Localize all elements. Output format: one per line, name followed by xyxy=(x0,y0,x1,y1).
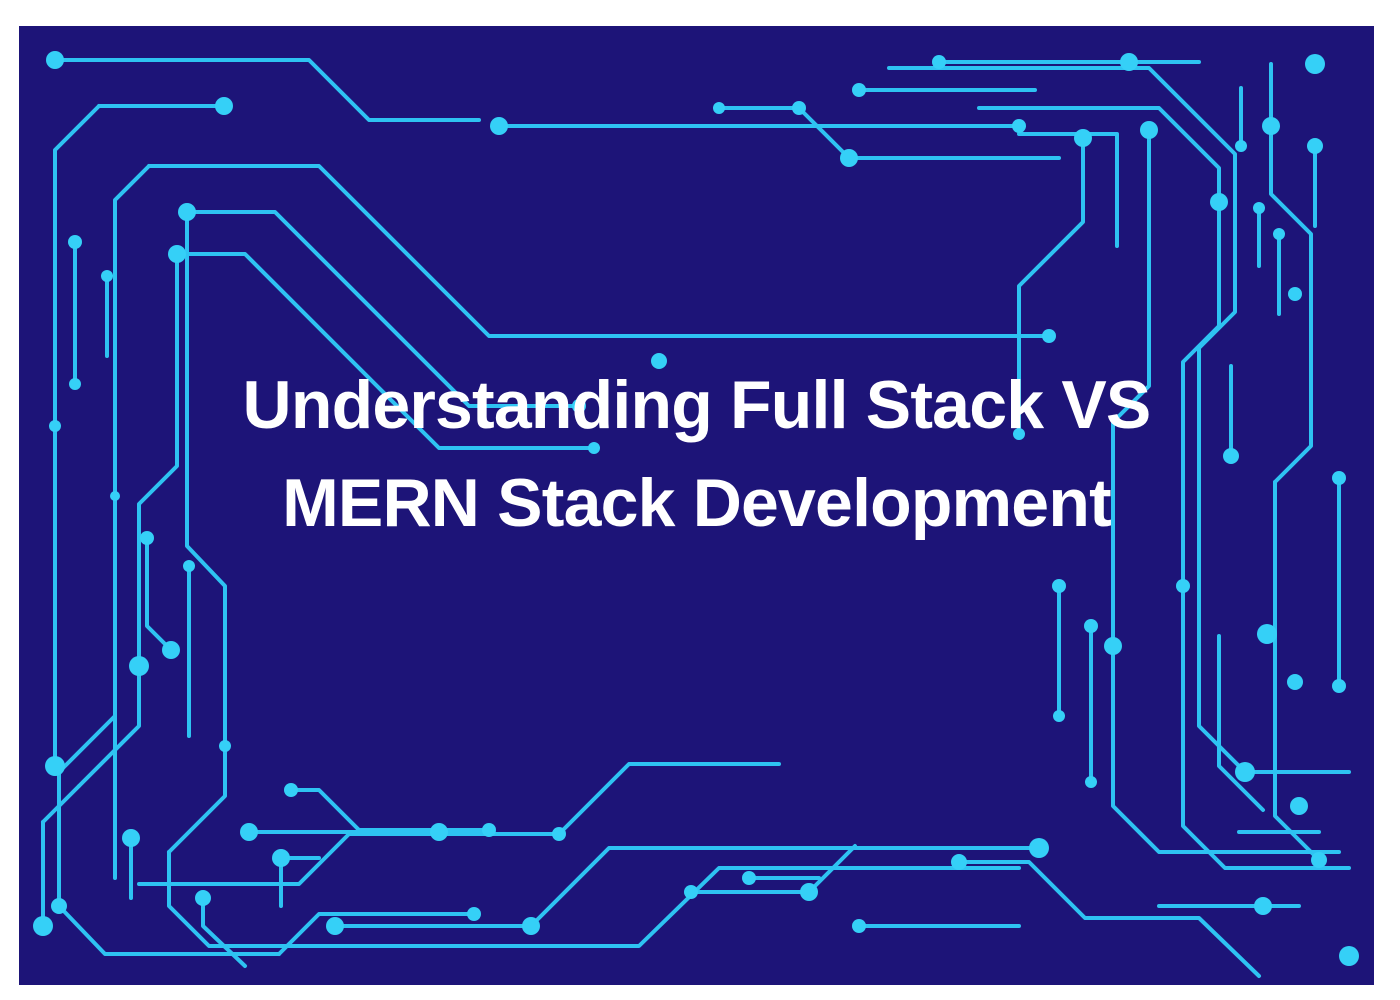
banner-background: Understanding Full Stack VS MERN Stack D… xyxy=(19,26,1374,985)
poster-canvas: Understanding Full Stack VS MERN Stack D… xyxy=(0,0,1400,1000)
page-title: Understanding Full Stack VS MERN Stack D… xyxy=(19,356,1374,552)
title-line-1: Understanding Full Stack VS xyxy=(139,356,1254,454)
title-line-2: MERN Stack Development xyxy=(139,454,1254,552)
